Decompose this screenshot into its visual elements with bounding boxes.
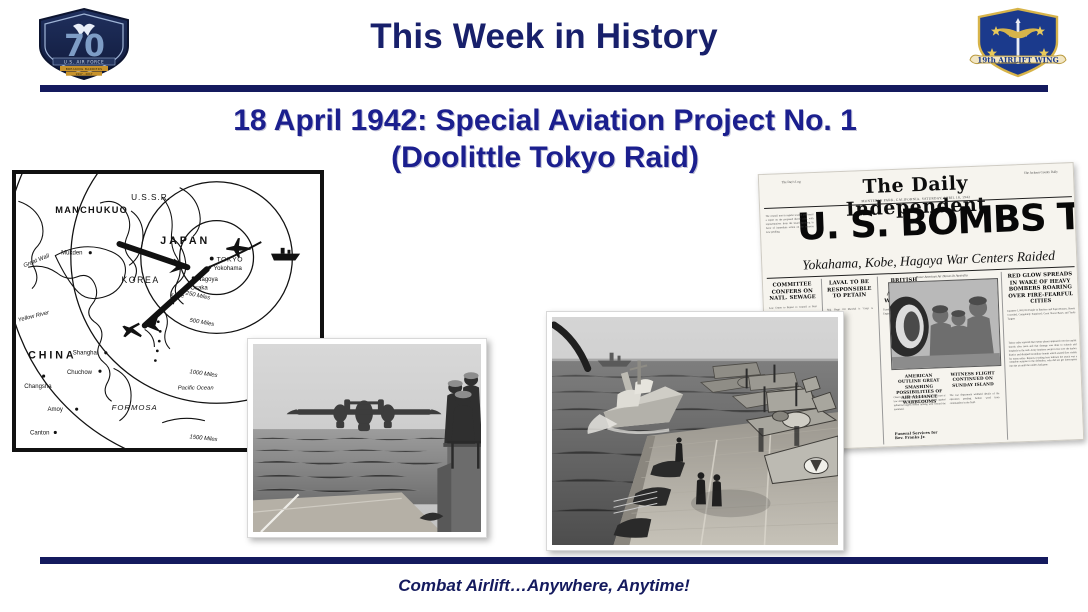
svg-text:KOREA: KOREA [121, 275, 159, 285]
slide-canvas: 70 U.S. AIR FORCE BREAKING BARRIERS 1947… [0, 0, 1088, 612]
newspaper-column-head: COMMITTEE CONFERS ON NATL. SEWAGE [767, 281, 818, 302]
newspaper-photo [888, 278, 1001, 370]
hornet-deck-svg [552, 317, 838, 545]
svg-text:Osaka: Osaka [190, 286, 208, 292]
svg-text:Mukden: Mukden [61, 251, 82, 257]
header-divider [40, 85, 1048, 92]
newspaper-banner-headline: U. S. BOMBS TOKYO [796, 199, 1079, 245]
newspaper-column-head: LAVAL TO BE RESPONSIBLE TO PETAIN [825, 279, 874, 300]
svg-text:JAPAN: JAPAN [160, 235, 210, 247]
svg-text:FORMOSA: FORMOSA [112, 403, 158, 412]
af-70th-logo-svg: 70 U.S. AIR FORCE BREAKING BARRIERS 1947… [33, 6, 135, 82]
af-70th-anniversary-logo: 70 U.S. AIR FORCE BREAKING BARRIERS 1947… [33, 6, 135, 82]
b25-takeoff-photo [247, 338, 487, 538]
footer-tagline: Combat Airlift…Anywhere, Anytime! [0, 576, 1088, 596]
svg-text:Kobe: Kobe [170, 293, 185, 299]
newspaper-sub-headline: Yokahama, Kobe, Hagaya War Centers Raide… [802, 247, 1078, 274]
svg-text:BREAKING BARRIERS: BREAKING BARRIERS [66, 67, 103, 71]
svg-text:Canton: Canton [30, 430, 49, 436]
newspaper-column-text: The war department withheld details of t… [949, 392, 1001, 438]
newspaper-column-head: RED GLOW SPREADS IN WAKE OF HEAVY BOMBER… [1005, 271, 1076, 306]
page-title: This Week in History [160, 18, 928, 57]
svg-text:Yokohama: Yokohama [214, 266, 243, 272]
svg-text:Chuchow: Chuchow [67, 370, 93, 376]
b25-takeoff-svg [253, 344, 481, 532]
svg-text:Pacific Ocean: Pacific Ocean [178, 386, 214, 392]
svg-text:TOKYO: TOKYO [217, 256, 244, 263]
svg-text:Nagoya: Nagoya [197, 277, 218, 283]
wing-scroll-text: 19th AIRLIFT WING [977, 56, 1058, 65]
svg-text:1947 - 2017: 1947 - 2017 [75, 72, 92, 76]
slide-subtitle: 18 April 1942: Special Aviation Project … [110, 103, 980, 176]
svg-text:U.S. AIR FORCE: U.S. AIR FORCE [64, 59, 104, 64]
newspaper-column-text: The council met in regular session and h… [765, 213, 815, 275]
newspaper-column-deck: Japanese 1,000,000 People in Bamboo and … [1007, 307, 1075, 321]
footer-divider [40, 557, 1048, 564]
hornet-deck-photo [546, 311, 844, 551]
subtitle-line-2: (Doolittle Tokyo Raid) [110, 140, 980, 177]
newspaper-byline: Funeral Services for Rev. Franks Jr. [895, 430, 947, 441]
subtitle-line-1: 18 April 1942: Special Aviation Project … [110, 103, 980, 140]
svg-text:MANCHUKUO: MANCHUKUO [55, 205, 128, 215]
svg-text:Changsha: Changsha [24, 384, 52, 390]
19th-airlift-wing-shield: 19th AIRLIFT WING [962, 4, 1074, 84]
svg-text:Amoy: Amoy [48, 407, 63, 413]
svg-text:CHINA: CHINA [28, 350, 76, 362]
newspaper-photo-svg [889, 279, 1000, 369]
svg-text:Shanghai: Shanghai [73, 351, 98, 357]
newspaper-column-text: Tokyo radio reported that enemy planes a… [1008, 339, 1080, 438]
wing-shield-svg: 19th AIRLIFT WING [962, 4, 1074, 84]
newspaper-lower-head: WITNESS FLIGHT CONTINUED ON SUNDAY ISLAN… [949, 370, 998, 388]
svg-text:U.S.S.R.: U.S.S.R. [131, 193, 171, 202]
